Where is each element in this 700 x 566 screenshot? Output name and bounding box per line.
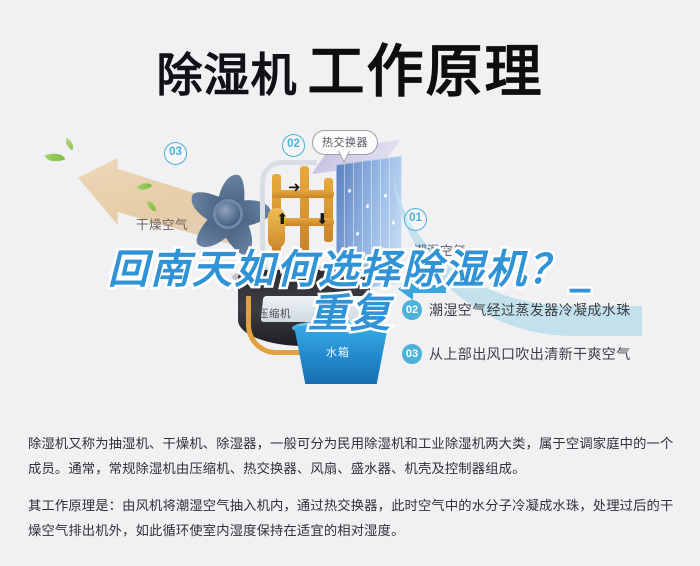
page-title: 除湿机工作原理	[0, 26, 700, 108]
pipe-segment	[300, 166, 309, 252]
page-title-part-b: 工作原理	[308, 40, 544, 104]
humid-air-label: 潮湿空气	[414, 240, 466, 259]
diagram-badge-02: 02	[282, 134, 305, 157]
legend-badge-03: 03	[402, 344, 422, 364]
legend-text-02: 潮湿空气经过蒸发器冷凝成水珠	[429, 300, 631, 320]
flow-arrow-right-icon: ➜	[288, 180, 301, 195]
page-title-part-a: 除湿机	[157, 49, 298, 101]
diagram-badge-01: 01	[404, 208, 427, 231]
humid-air-arrow-icon	[398, 278, 413, 300]
legend-text-03: 从上部出风口吹出清新干爽空气	[429, 344, 631, 364]
fan-hub	[216, 202, 240, 226]
dehumidifier-diagram: 干燥空气 ➜ ⬆ ⬇	[0, 120, 700, 410]
body-paragraph-2: 其工作原理是：由风机将潮湿空气抽入机内，通过热交换器，此时空气中的水分子冷凝成水…	[28, 493, 676, 543]
diagram-badge-03: 03	[164, 142, 187, 165]
callout-stem	[338, 151, 350, 163]
leaf-icon	[45, 149, 66, 166]
legend-badge-02: 02	[402, 300, 422, 320]
compressor-label: 压缩机	[258, 306, 291, 321]
pipe-segment	[272, 190, 334, 198]
flow-arrow-down-icon: ⬇	[316, 212, 329, 227]
infographic-page: 除湿机工作原理 干燥空气 ➜ ⬆ ⬇	[0, 0, 700, 566]
dry-air-label: 干燥空气	[136, 214, 188, 233]
water-tank-label: 水箱	[326, 344, 350, 360]
humid-air-arrow-tail	[412, 285, 446, 293]
leaf-icon	[63, 138, 77, 150]
flow-arrow-up-icon: ⬆	[276, 212, 289, 227]
legend-item-03: 03 从上部出风口吹出清新干爽空气	[402, 344, 662, 364]
body-paragraph-1: 除湿机又称为抽湿机、干燥机、除湿器，一般可分为民用除湿机和工业除湿机两大类，属于…	[28, 431, 676, 481]
legend-item-02: 02 潮湿空气经过蒸发器冷凝成水珠	[402, 300, 662, 320]
